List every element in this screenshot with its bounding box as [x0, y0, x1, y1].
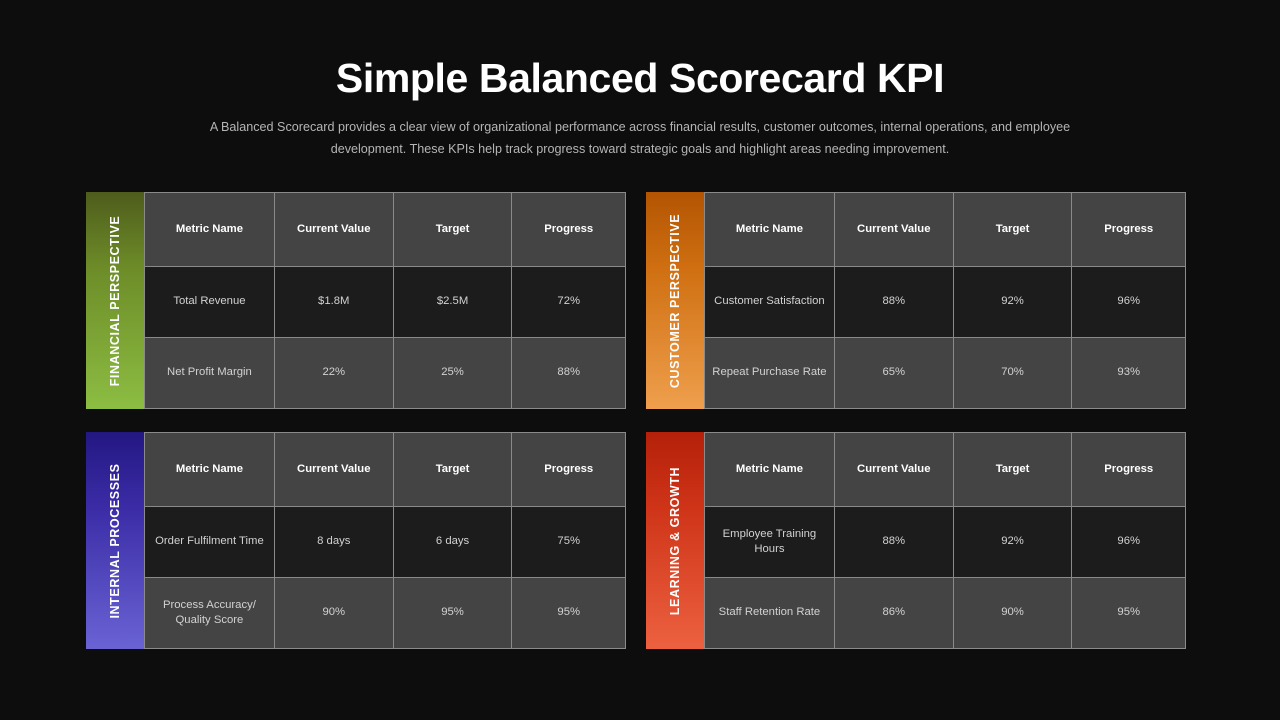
cell-metric: Employee Training Hours: [705, 507, 835, 578]
cell-metric: Order Fulfilment Time: [145, 507, 275, 578]
panel-tab-learning-growth: LEARNING & GROWTH: [646, 432, 704, 649]
cell-progress: 93%: [1072, 338, 1186, 409]
cell-target: 92%: [953, 267, 1072, 338]
column-header-progress: Progress: [512, 193, 626, 267]
column-header-metric: Metric Name: [705, 193, 835, 267]
cell-current: 88%: [834, 507, 953, 578]
column-header-progress: Progress: [512, 433, 626, 507]
cell-progress: 96%: [1072, 267, 1186, 338]
column-header-current: Current Value: [834, 193, 953, 267]
scorecard-grid: FINANCIAL PERSPECTIVE Metric Name Curren…: [86, 192, 1186, 649]
table-header-row: Metric Name Current Value Target Progres…: [145, 193, 626, 267]
cell-current: 8 days: [274, 507, 393, 578]
cell-progress: 95%: [1072, 578, 1186, 649]
cell-metric: Net Profit Margin: [145, 338, 275, 409]
column-header-target: Target: [393, 193, 512, 267]
column-header-current: Current Value: [834, 433, 953, 507]
column-header-metric: Metric Name: [145, 193, 275, 267]
table-row: Customer Satisfaction 88% 92% 96%: [705, 267, 1186, 338]
kpi-table-learning-growth: Metric Name Current Value Target Progres…: [704, 432, 1186, 649]
cell-progress: 72%: [512, 267, 626, 338]
table-row: Employee Training Hours 88% 92% 96%: [705, 507, 1186, 578]
panel-internal-processes: INTERNAL PROCESSES Metric Name Current V…: [86, 432, 626, 649]
column-header-target: Target: [953, 193, 1072, 267]
cell-current: 88%: [834, 267, 953, 338]
cell-target: $2.5M: [393, 267, 512, 338]
column-header-progress: Progress: [1072, 193, 1186, 267]
table-row: Staff Retention Rate 86% 90% 95%: [705, 578, 1186, 649]
panel-tab-internal-processes: INTERNAL PROCESSES: [86, 432, 144, 649]
table-header-row: Metric Name Current Value Target Progres…: [145, 433, 626, 507]
cell-progress: 96%: [1072, 507, 1186, 578]
table-row: Order Fulfilment Time 8 days 6 days 75%: [145, 507, 626, 578]
cell-progress: 95%: [512, 578, 626, 649]
cell-target: 25%: [393, 338, 512, 409]
table-row: Repeat Purchase Rate 65% 70% 93%: [705, 338, 1186, 409]
cell-current: 86%: [834, 578, 953, 649]
panel-tab-financial-perspective: FINANCIAL PERSPECTIVE: [86, 192, 144, 409]
table-row: Net Profit Margin 22% 25% 88%: [145, 338, 626, 409]
column-header-target: Target: [393, 433, 512, 507]
cell-current: 65%: [834, 338, 953, 409]
cell-progress: 75%: [512, 507, 626, 578]
cell-progress: 88%: [512, 338, 626, 409]
kpi-table-customer-perspective: Metric Name Current Value Target Progres…: [704, 192, 1186, 409]
cell-current: $1.8M: [274, 267, 393, 338]
column-header-progress: Progress: [1072, 433, 1186, 507]
panel-learning-growth: LEARNING & GROWTH Metric Name Current Va…: [646, 432, 1186, 649]
cell-current: 90%: [274, 578, 393, 649]
panel-financial-perspective: FINANCIAL PERSPECTIVE Metric Name Curren…: [86, 192, 626, 409]
deck-header: Simple Balanced Scorecard KPI A Balanced…: [0, 0, 1280, 161]
cell-target: 6 days: [393, 507, 512, 578]
cell-metric: Repeat Purchase Rate: [705, 338, 835, 409]
cell-target: 70%: [953, 338, 1072, 409]
panel-tab-label: FINANCIAL PERSPECTIVE: [108, 215, 122, 386]
panel-customer-perspective: CUSTOMER PERSPECTIVE Metric Name Current…: [646, 192, 1186, 409]
cell-metric: Customer Satisfaction: [705, 267, 835, 338]
column-header-current: Current Value: [274, 193, 393, 267]
page-subtitle: A Balanced Scorecard provides a clear vi…: [190, 117, 1090, 160]
cell-metric: Process Accuracy/ Quality Score: [145, 578, 275, 649]
cell-target: 90%: [953, 578, 1072, 649]
table-row: Process Accuracy/ Quality Score 90% 95% …: [145, 578, 626, 649]
panel-tab-label: LEARNING & GROWTH: [668, 466, 682, 614]
kpi-table-internal-processes: Metric Name Current Value Target Progres…: [144, 432, 626, 649]
kpi-table-financial-perspective: Metric Name Current Value Target Progres…: [144, 192, 626, 409]
panel-tab-label: INTERNAL PROCESSES: [108, 463, 122, 618]
column-header-target: Target: [953, 433, 1072, 507]
column-header-metric: Metric Name: [145, 433, 275, 507]
cell-metric: Staff Retention Rate: [705, 578, 835, 649]
table-header-row: Metric Name Current Value Target Progres…: [705, 433, 1186, 507]
cell-target: 92%: [953, 507, 1072, 578]
table-header-row: Metric Name Current Value Target Progres…: [705, 193, 1186, 267]
cell-current: 22%: [274, 338, 393, 409]
column-header-metric: Metric Name: [705, 433, 835, 507]
cell-target: 95%: [393, 578, 512, 649]
panel-tab-customer-perspective: CUSTOMER PERSPECTIVE: [646, 192, 704, 409]
page-title: Simple Balanced Scorecard KPI: [0, 54, 1280, 103]
column-header-current: Current Value: [274, 433, 393, 507]
table-row: Total Revenue $1.8M $2.5M 72%: [145, 267, 626, 338]
cell-metric: Total Revenue: [145, 267, 275, 338]
panel-tab-label: CUSTOMER PERSPECTIVE: [668, 213, 682, 387]
